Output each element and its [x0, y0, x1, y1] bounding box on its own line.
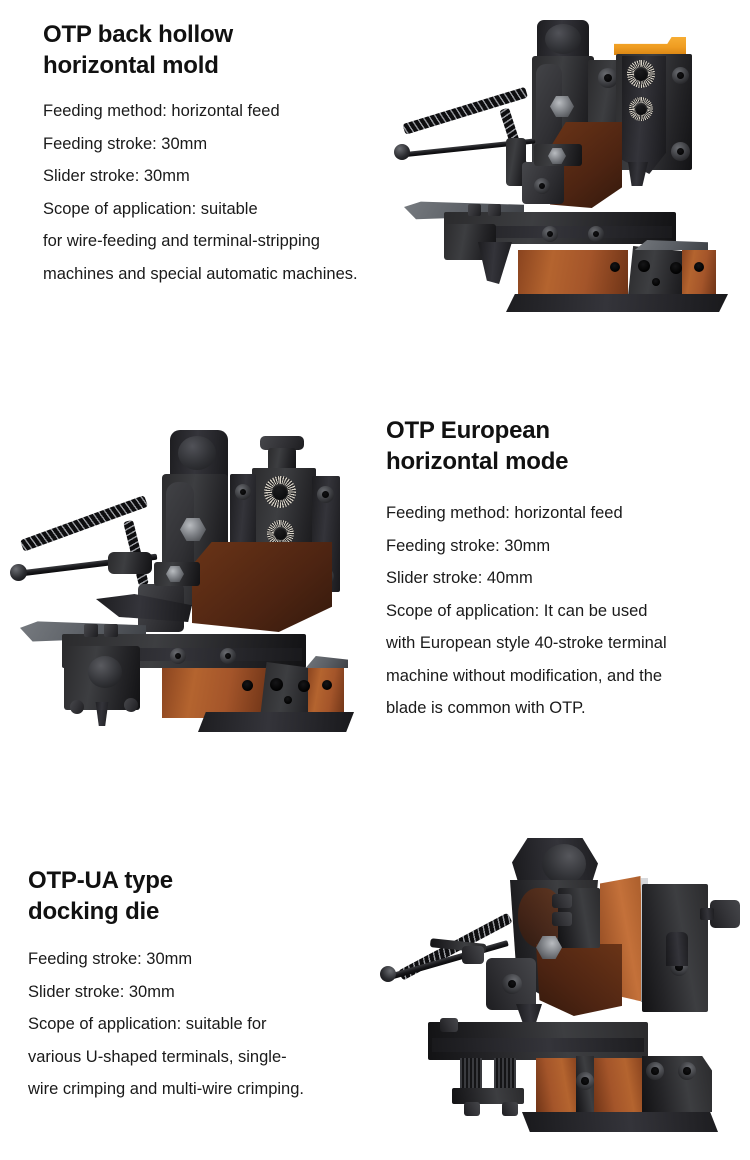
- orange-top-plate: [614, 37, 686, 55]
- side-housing-tab: [666, 932, 688, 966]
- base-left-bolt-b: [646, 1062, 664, 1080]
- spec-feeding-method: Feeding method: horizontal feed: [43, 95, 373, 128]
- knurled-post-right: [460, 1058, 482, 1092]
- section-3-heading: OTP-UA type docking die: [28, 865, 358, 927]
- carriage-stud-a: [468, 204, 481, 216]
- machine-illustration-1: [382, 12, 744, 312]
- spec-feeding-stroke: Feeding stroke: 30mm: [43, 128, 373, 161]
- spec-feeding-stroke: Feeding stroke: 30mm: [28, 943, 358, 976]
- carriage-bolt-mid: [542, 226, 558, 242]
- copper-riser: [192, 542, 332, 632]
- copper-base-block-left: [162, 668, 266, 718]
- carriage-stud-b: [104, 624, 118, 637]
- copper-base-block-left: [594, 1058, 642, 1114]
- adjuster-foot-left: [502, 1102, 518, 1116]
- spec-slider-stroke: Slider stroke: 30mm: [28, 976, 358, 1009]
- base-hole-1: [610, 262, 620, 272]
- die-holder-bolt-right-top: [672, 67, 689, 84]
- carriage-stud-a: [84, 624, 98, 637]
- side-housing-knob: [710, 900, 740, 928]
- carriage-stud-b: [488, 204, 501, 216]
- spec-slider-stroke: Slider stroke: 40mm: [386, 562, 731, 595]
- spec-feeding-method: Feeding method: horizontal feed: [386, 497, 731, 530]
- carriage-end-stud: [440, 1018, 458, 1032]
- copper-base-block-right: [536, 1058, 576, 1114]
- adjuster-foot-right: [464, 1102, 480, 1116]
- side-housing-knob-stem: [700, 908, 714, 920]
- base-hole-2: [270, 678, 283, 691]
- section-2-heading: OTP European horizontal mode: [386, 415, 731, 477]
- tool-column-bolt-top: [598, 68, 618, 88]
- machine-illustration-3: [372, 832, 748, 1144]
- section-3-spec-list: Feeding stroke: 30mm Slider stroke: 30mm…: [28, 943, 358, 1106]
- base-plate: [522, 1112, 718, 1132]
- base-plate: [198, 712, 354, 732]
- crimp-height-dial-lower: [629, 97, 653, 121]
- clamp-stem: [94, 702, 110, 726]
- spec-scope-of-application: Scope of application: suitable for vario…: [28, 1008, 358, 1106]
- section-1-spec-list: Feeding method: horizontal feed Feeding …: [43, 95, 373, 290]
- base-hole-5: [652, 278, 660, 286]
- section-3-text-block: OTP-UA type docking die Feeding stroke: …: [28, 865, 358, 1106]
- feed-pawl-bolt: [534, 178, 550, 194]
- base-hole-4: [322, 680, 332, 690]
- die-holder-bolt-right-bottom: [671, 142, 690, 161]
- ram-head-boss: [542, 844, 586, 884]
- machine-illustration-2: [2, 412, 370, 744]
- side-plate-right-bolt-top: [317, 486, 334, 503]
- copper-base-block-left: [518, 250, 628, 296]
- die-clamp-pin-b: [552, 912, 572, 926]
- section-1-text-block: OTP back hollow horizontal mold Feeding …: [43, 19, 373, 290]
- slide-carriage-rail: [432, 1038, 644, 1052]
- spec-feeding-stroke: Feeding stroke: 30mm: [386, 530, 731, 563]
- spec-slider-stroke: Slider stroke: 30mm: [43, 160, 373, 193]
- section-3-product-image: [372, 832, 748, 1144]
- base-plate: [506, 294, 728, 312]
- spring-ball-end: [394, 144, 410, 160]
- knurled-post-left: [494, 1058, 516, 1092]
- copper-base-block-right: [308, 668, 344, 718]
- crimp-height-dial-upper: [264, 476, 296, 508]
- section-2-text-block: OTP European horizontal mode Feeding met…: [386, 415, 731, 725]
- feed-pawl-bolt: [502, 974, 522, 994]
- base-hole-2: [638, 260, 650, 272]
- base-hole-1: [242, 680, 253, 691]
- side-plate-left-bolt-top: [235, 484, 251, 500]
- base-left-bolt-a: [678, 1062, 696, 1080]
- base-hole-3: [670, 262, 682, 274]
- spring-ball-end: [10, 564, 27, 581]
- product-spec-page: OTP back hollow horizontal mold Feeding …: [0, 0, 750, 1160]
- base-hole-5: [284, 696, 292, 704]
- spring-anchor-knob: [462, 946, 484, 964]
- carriage-bolt-right: [220, 648, 236, 664]
- clamp-trigger: [478, 242, 512, 284]
- clamp-foot-right: [124, 698, 138, 712]
- ram-head-boss: [545, 24, 581, 54]
- crimp-height-dial-upper: [627, 60, 655, 88]
- carriage-bolt-left: [170, 648, 186, 664]
- base-mid-bolt: [576, 1072, 594, 1090]
- section-2-spec-list: Feeding method: horizontal feed Feeding …: [386, 497, 731, 725]
- section-1-heading: OTP back hollow horizontal mold: [43, 19, 373, 81]
- section-1-product-image: [382, 12, 744, 312]
- spring-ball-end: [380, 966, 396, 982]
- base-hole-3: [298, 680, 310, 692]
- section-2-product-image: [2, 412, 370, 744]
- spec-scope-of-application: Scope of application: suitable for wire-…: [43, 193, 373, 291]
- clamp-foot-left: [70, 700, 84, 714]
- die-clamp-pin-a: [552, 894, 572, 908]
- die-holder-foot: [628, 162, 648, 186]
- ram-head-boss: [178, 436, 216, 470]
- carriage-bolt-right: [588, 226, 604, 242]
- copper-base-block-right: [682, 250, 716, 296]
- clamp-round-knob: [88, 656, 122, 688]
- feed-arm-pivot: [108, 552, 152, 574]
- base-bevel-highlight: [302, 656, 348, 668]
- spec-scope-of-application: Scope of application: It can be used wit…: [386, 595, 731, 725]
- base-hole-4: [694, 262, 704, 272]
